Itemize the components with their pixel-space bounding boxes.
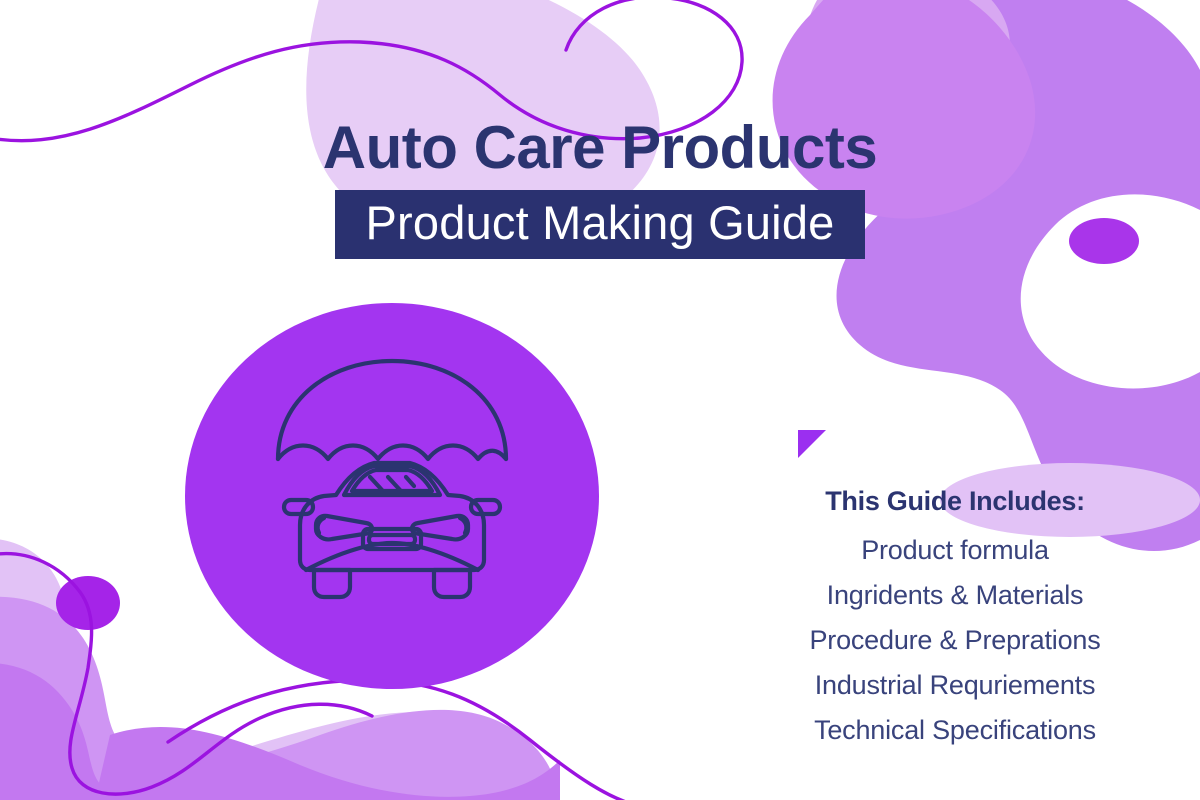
- feature-list-heading: This Guide Includes:: [760, 486, 1150, 517]
- list-item: Industrial Requriements: [760, 663, 1150, 708]
- subtitle-band: Product Making Guide: [335, 190, 864, 259]
- feature-list: Product formula Ingridents & Materials P…: [760, 528, 1150, 753]
- list-item: Technical Specifications: [760, 708, 1150, 753]
- poster-canvas: Auto Care Products Product Making Guide: [0, 0, 1200, 800]
- accent-triangle-icon: [798, 430, 826, 458]
- list-item: Product formula: [760, 528, 1150, 573]
- page-title: Auto Care Products: [0, 118, 1200, 178]
- poster-content: Auto Care Products Product Making Guide: [0, 0, 1200, 800]
- page-subtitle: Product Making Guide: [365, 196, 834, 249]
- title-block: Auto Care Products Product Making Guide: [0, 118, 1200, 259]
- list-item: Procedure & Preprations: [760, 618, 1150, 663]
- car-under-umbrella-icon: [262, 355, 522, 610]
- list-item: Ingridents & Materials: [760, 573, 1150, 618]
